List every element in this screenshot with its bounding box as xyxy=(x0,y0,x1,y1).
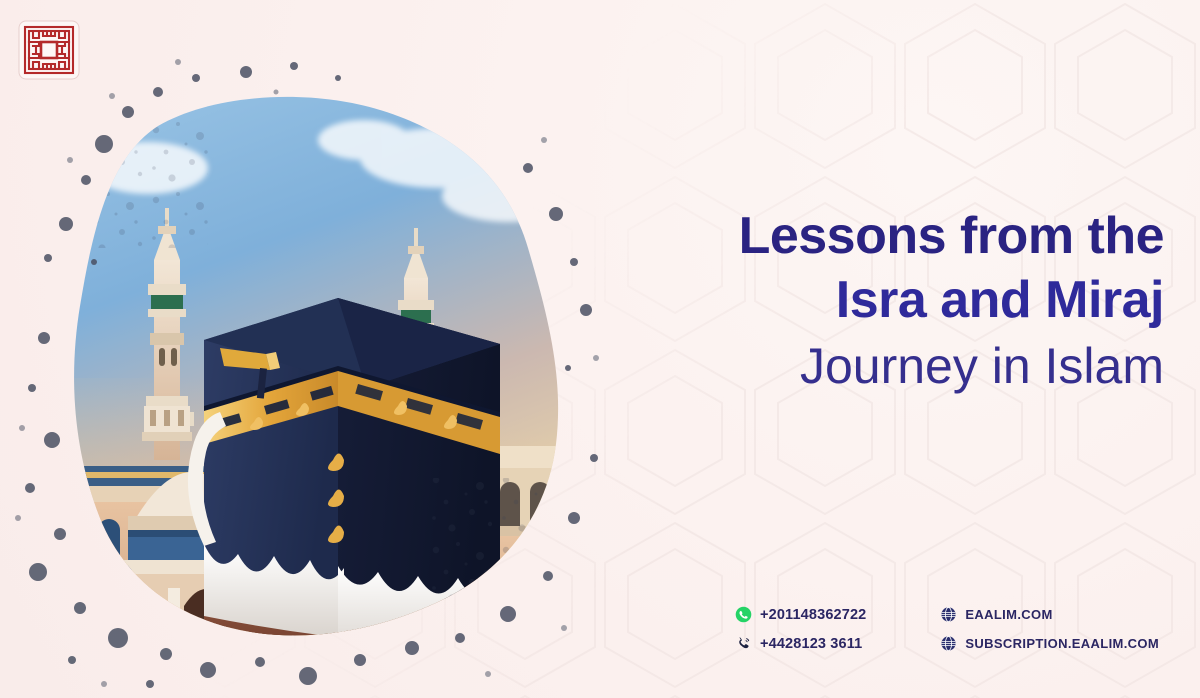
contact-phone-number: +4428123 3611 xyxy=(760,636,862,652)
globe-icon xyxy=(940,606,957,623)
contact-bar: +201148362722 +4428123 3611 xyxy=(735,606,1159,652)
promo-banner: Lessons from the Isra and Miraj Journey … xyxy=(0,0,1200,698)
contact-column-phone: +201148362722 +4428123 3611 xyxy=(735,606,866,652)
contact-website[interactable]: EAALIM.COM xyxy=(940,606,1159,623)
phone-icon xyxy=(735,635,752,652)
kaaba-illustration xyxy=(8,48,648,688)
headline-line-2: Isra and Miraj xyxy=(564,270,1164,330)
headline: Lessons from the Isra and Miraj Journey … xyxy=(564,206,1164,395)
contact-phone[interactable]: +4428123 3611 xyxy=(735,635,866,652)
headline-line-1: Lessons from the xyxy=(564,206,1164,266)
contact-subscription-url: SUBSCRIPTION.EAALIM.COM xyxy=(965,636,1159,651)
globe-icon xyxy=(940,635,957,652)
contact-subscription[interactable]: SUBSCRIPTION.EAALIM.COM xyxy=(940,635,1159,652)
brand-logo-icon[interactable] xyxy=(18,20,80,80)
contact-whatsapp[interactable]: +201148362722 xyxy=(735,606,866,623)
contact-whatsapp-number: +201148362722 xyxy=(760,607,866,623)
headline-line-3: Journey in Islam xyxy=(564,337,1164,395)
contact-website-url: EAALIM.COM xyxy=(965,607,1052,622)
whatsapp-icon xyxy=(735,606,752,623)
scene-clip xyxy=(48,78,618,658)
contact-column-web: EAALIM.COM SUBSCRIPTION.EAALIM.COM xyxy=(940,606,1159,652)
